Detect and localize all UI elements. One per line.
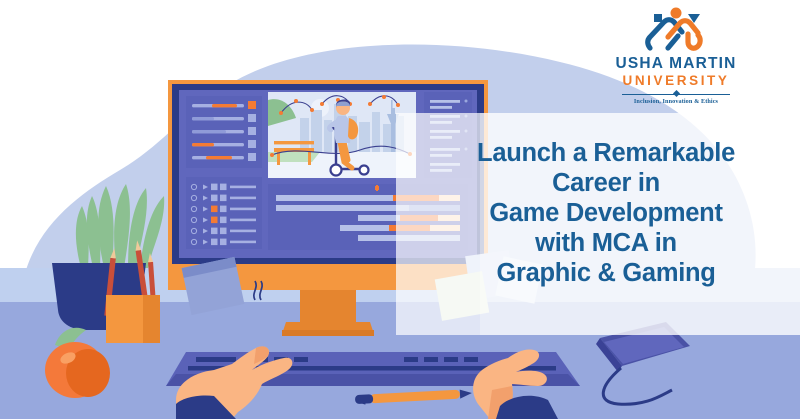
- logo-line-2: UNIVERSITY: [610, 74, 742, 88]
- logo-tagline: Inclusion, Innovation & Ethics: [610, 99, 742, 105]
- university-logo: USHA MARTIN UNIVERSITY Inclusion, Innova…: [610, 6, 742, 105]
- properties-sliders-panel: [186, 96, 262, 168]
- layers-timeline-panel: [186, 177, 262, 249]
- headline: Launch a Remarkable Career in Game Devel…: [430, 138, 782, 288]
- headline-line-1: Launch a Remarkable: [430, 138, 782, 168]
- twin-mountain-peaks-icon: [644, 6, 708, 52]
- headline-line-4: with MCA in: [430, 228, 782, 258]
- animation-preview-viewport: [268, 92, 416, 178]
- promo-banner: USHA MARTIN UNIVERSITY Inclusion, Innova…: [0, 0, 800, 419]
- headline-line-3: Game Development: [430, 198, 782, 228]
- headline-line-2: Career in: [430, 168, 782, 198]
- logo-divider: [610, 91, 742, 97]
- headline-line-5: Graphic & Gaming: [430, 258, 782, 288]
- logo-line-1: USHA MARTIN: [610, 56, 742, 72]
